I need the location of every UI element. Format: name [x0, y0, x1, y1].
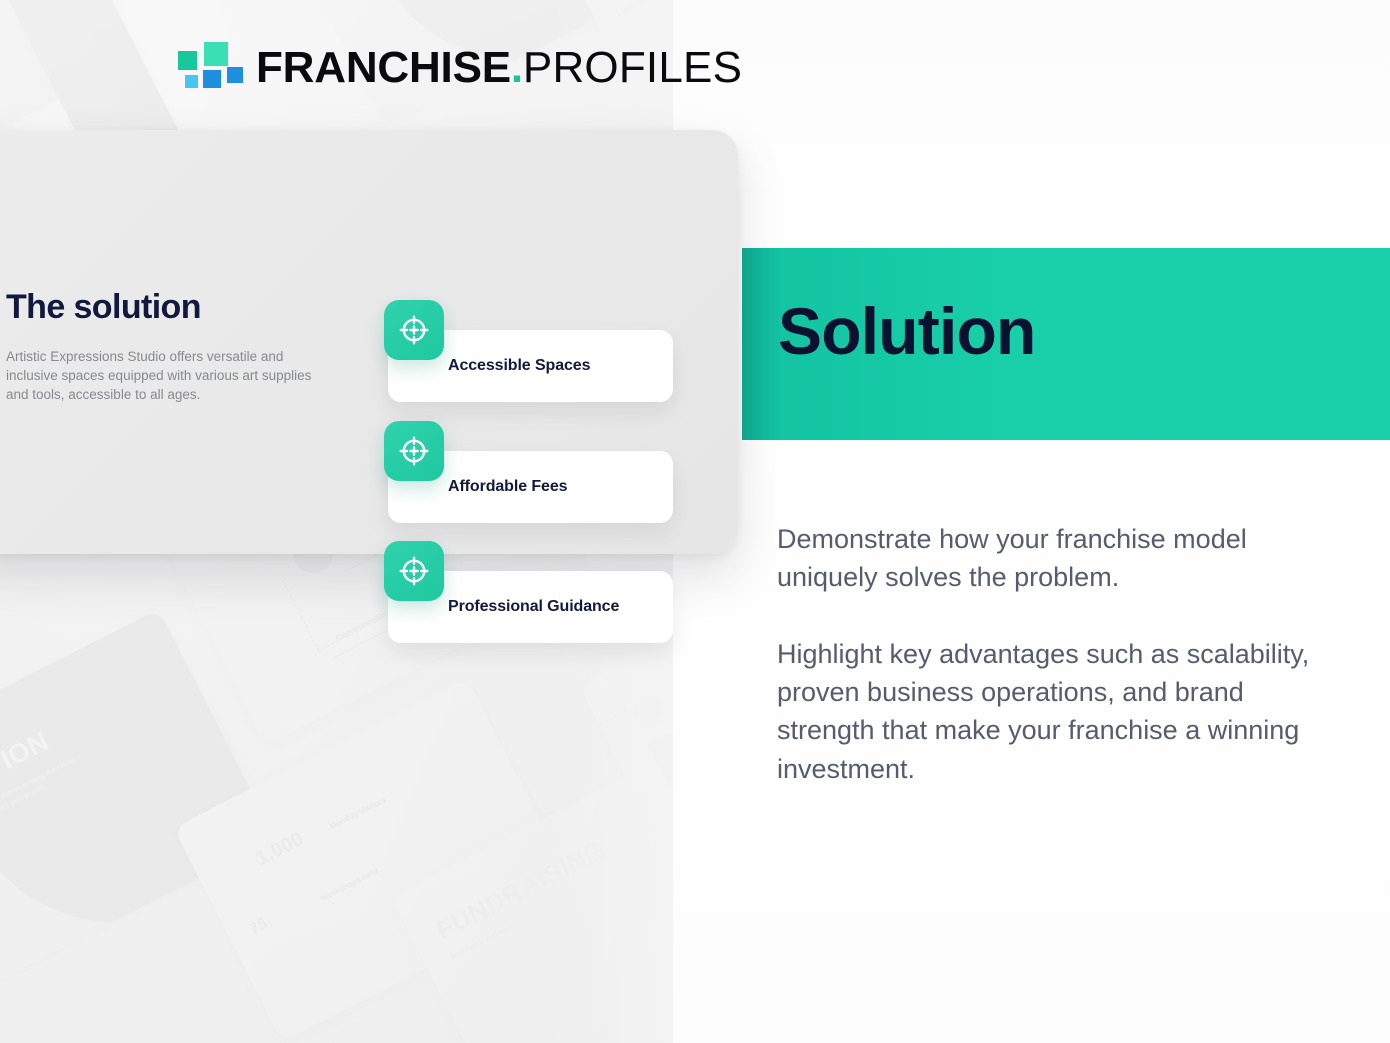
- brand-logo: FRANCHISE . PROFILES: [178, 42, 742, 94]
- brand-name-dot: .: [511, 43, 523, 93]
- section-banner: Solution: [742, 248, 1390, 440]
- feature-label: Professional Guidance: [448, 598, 619, 616]
- section-description: Demonstrate how your franchise model uni…: [777, 520, 1317, 788]
- preview-subtitle: Artistic Expressions Studio offers versa…: [6, 347, 326, 404]
- preview-title: The solution: [6, 288, 201, 327]
- feature-label: Affordable Fees: [448, 478, 567, 496]
- page-title: Solution: [778, 298, 1036, 364]
- slide-preview-card[interactable]: The solution Artistic Expressions Studio…: [0, 130, 738, 554]
- crosshair-target-icon: [384, 541, 444, 601]
- franchise-profiles-logo-mark-icon: [178, 42, 234, 94]
- crosshair-target-icon: [384, 421, 444, 481]
- brand-name-thin: PROFILES: [523, 43, 742, 93]
- brand-name-bold: FRANCHISE: [256, 43, 511, 93]
- crosshair-target-icon: [384, 300, 444, 360]
- slide-root: MARKET Growing demand for creative space…: [0, 0, 1390, 1043]
- brand-wordmark: FRANCHISE . PROFILES: [256, 43, 742, 93]
- feature-label: Accessible Spaces: [448, 357, 590, 375]
- description-paragraph-1: Demonstrate how your franchise model uni…: [777, 520, 1317, 597]
- description-paragraph-2: Highlight key advantages such as scalabi…: [777, 635, 1317, 788]
